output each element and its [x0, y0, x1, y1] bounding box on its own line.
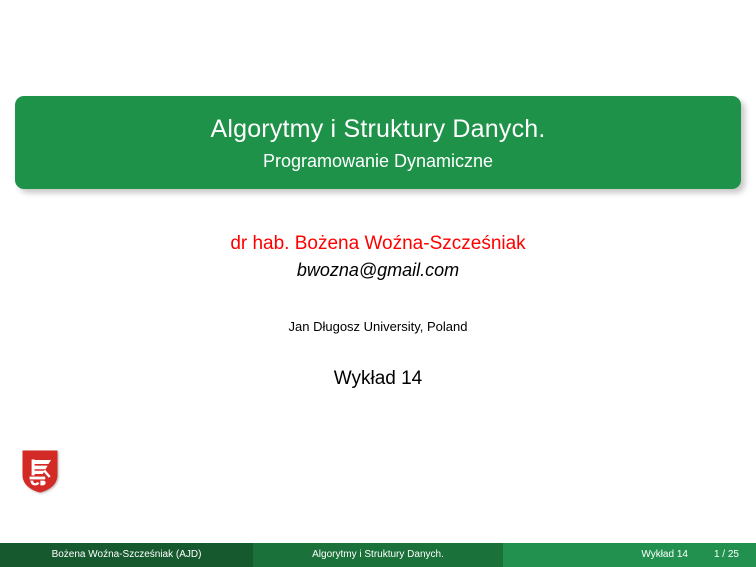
footer-bar: Bożena Woźna-Szcześniak (AJD) Algorytmy … — [0, 543, 756, 567]
institution-name: Jan Długosz University, Poland — [0, 318, 756, 335]
author-name: dr hab. Bożena Woźna-Szcześniak — [0, 231, 756, 256]
footer-author: Bożena Woźna-Szcześniak (AJD) — [0, 543, 253, 567]
author-block: dr hab. Bożena Woźna-Szcześniak bwozna@g… — [0, 231, 756, 282]
footer-lecture: Wykład 14 — [641, 549, 688, 561]
lecture-heading: Wykład 14 — [0, 367, 756, 391]
footer-title: Algorytmy i Struktury Danych. — [253, 543, 503, 567]
page-subtitle: Programowanie Dynamiczne — [263, 150, 493, 172]
author-email: bwozna@gmail.com — [0, 258, 756, 282]
footer-page-number: 1 / 25 — [714, 549, 739, 561]
page-title: Algorytmy i Struktury Danych. — [210, 114, 545, 144]
university-shield-icon — [21, 449, 59, 494]
title-banner: Algorytmy i Struktury Danych. Programowa… — [15, 96, 741, 189]
footer-meta: Wykład 14 1 / 25 — [503, 543, 756, 567]
